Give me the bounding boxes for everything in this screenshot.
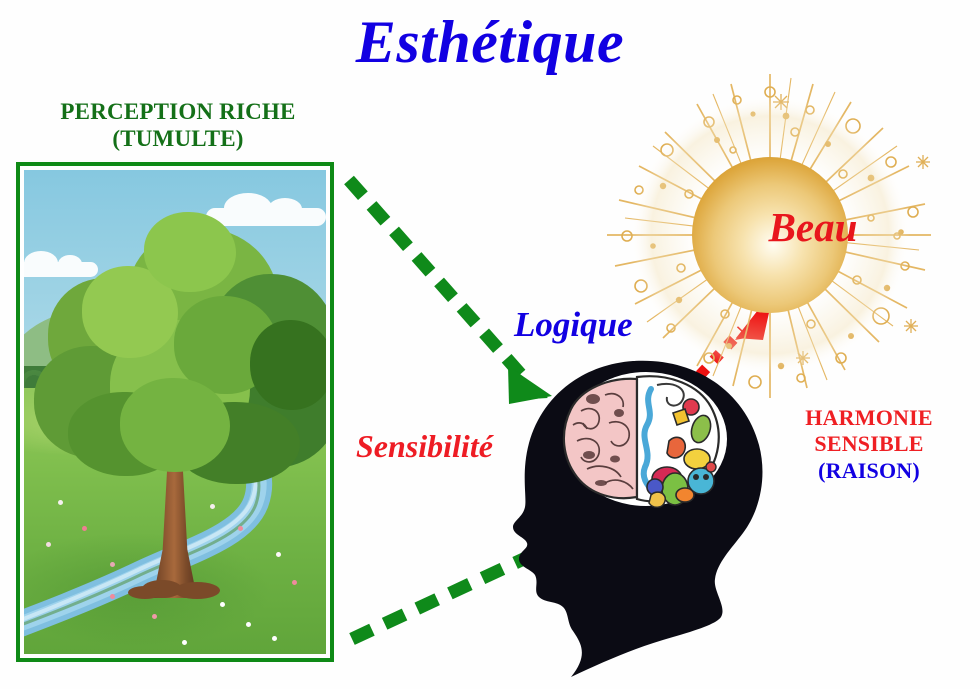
flower-icon <box>110 562 115 567</box>
sensibilite-label: Sensibilité <box>356 428 493 465</box>
nature-image-frame <box>16 162 334 662</box>
perception-riche-line2: (TUMULTE) <box>112 126 243 151</box>
brain-icon <box>564 376 719 507</box>
flower-icon <box>58 500 63 505</box>
perception-riche-line1: PERCEPTION RICHE <box>60 99 295 124</box>
flower-icon <box>276 552 281 557</box>
harmonie-line2: SENSIBLE <box>760 431 978 457</box>
cloud-icon <box>206 208 326 226</box>
harmonie-sensible-label: HARMONIE SENSIBLE (RAISON) <box>760 405 978 484</box>
perception-riche-label: PERCEPTION RICHE (TUMULTE) <box>18 98 338 152</box>
flower-icon <box>238 526 243 531</box>
diagram-canvas: Esthétique PERCEPTION RICHE (TUMULTE) <box>0 0 980 684</box>
tree-root <box>174 582 220 599</box>
flower-icon <box>182 640 187 645</box>
flower-icon <box>46 542 51 547</box>
flower-icon <box>220 602 225 607</box>
flower-icon <box>246 622 251 627</box>
flower-icon <box>82 526 87 531</box>
flower-icon <box>152 614 157 619</box>
flower-icon <box>110 594 115 599</box>
harmonie-line1: HARMONIE <box>760 405 978 431</box>
page-title: Esthétique <box>0 8 980 77</box>
tree-root <box>128 586 162 599</box>
head-silhouette-icon <box>505 355 795 684</box>
cloud-icon <box>24 262 98 277</box>
flower-icon <box>292 580 297 585</box>
flower-icon <box>210 504 215 509</box>
harmonie-line3: (RAISON) <box>760 458 978 484</box>
beau-label: Beau <box>735 203 891 251</box>
nature-landscape-illustration <box>24 170 326 654</box>
flower-icon <box>272 636 277 641</box>
